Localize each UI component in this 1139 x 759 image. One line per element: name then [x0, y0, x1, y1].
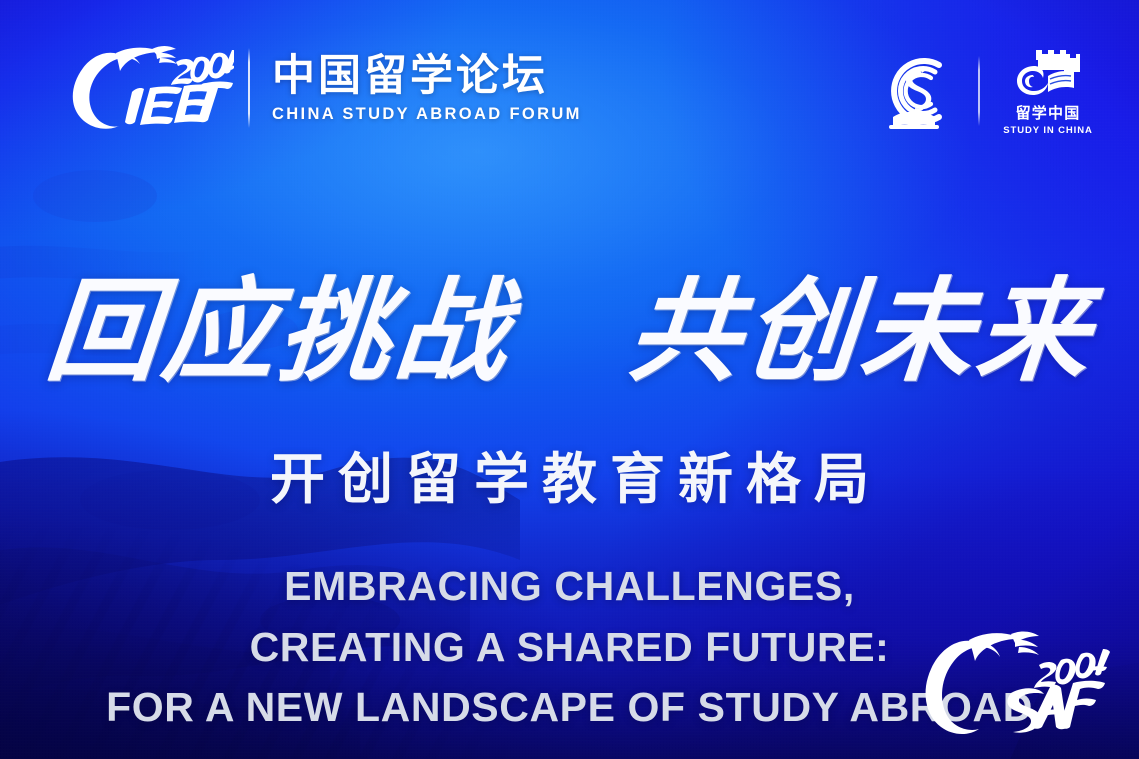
study-in-china-logo: 留学中国 STUDY IN CHINA: [1001, 46, 1095, 136]
study-in-china-label-en: STUDY IN CHINA: [1003, 126, 1093, 136]
forum-title-group: 中国留学论坛 CHINA STUDY ABROAD FORUM: [272, 52, 582, 125]
header-bar: 中国留学论坛 CHINA STUDY ABROAD FORUM: [0, 0, 1139, 176]
slogan-left: 回应挑战: [42, 276, 516, 388]
brand-lockup-left: 中国留学论坛 CHINA STUDY ABROAD FORUM: [56, 40, 582, 136]
english-tagline-block: EMBRACING CHALLENGES, CREATING A SHARED …: [0, 556, 1139, 738]
event-backdrop: 中国留学论坛 CHINA STUDY ABROAD FORUM: [0, 0, 1139, 759]
forum-title-en: CHINA STUDY ABROAD FORUM: [272, 105, 582, 124]
brand-lockup-right: 留学中国 STUDY IN CHINA: [871, 46, 1095, 136]
brand-divider: [248, 48, 250, 128]
forum-title-cn: 中国留学论坛: [272, 54, 582, 99]
slogan-right: 共创未来: [624, 276, 1098, 388]
right-brand-divider: [978, 56, 980, 126]
main-slogan: 回应挑战 共创未来: [0, 276, 1139, 388]
english-line-2: CREATING A SHARED FUTURE:: [0, 617, 1139, 678]
subtitle-chinese: 开创留学教育新格局: [0, 452, 1139, 507]
study-in-china-label-cn: 留学中国: [1016, 106, 1081, 121]
great-wall-tower-icon: [1012, 46, 1084, 100]
csc-emblem-icon: [871, 49, 957, 133]
english-line-3: FOR A NEW LANDSCAPE OF STUDY ABROAD: [0, 677, 1139, 738]
cieet-logo-icon: [56, 40, 234, 136]
english-line-1: EMBRACING CHALLENGES,: [0, 556, 1139, 617]
